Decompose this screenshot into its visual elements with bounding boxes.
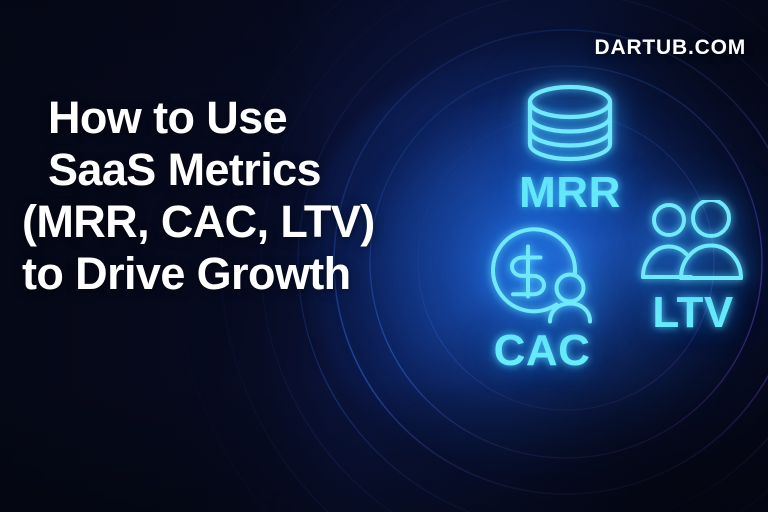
metrics-icon-cluster: MRR CAC: [440, 60, 768, 400]
headline-line-4: to Drive Growth: [22, 248, 422, 300]
dollar-circle-user-icon: [452, 220, 632, 324]
metric-cac: CAC: [452, 220, 632, 376]
metric-ltv-label: LTV: [608, 288, 768, 338]
metric-cac-label: CAC: [452, 326, 632, 376]
database-cylinder-icon: [480, 82, 660, 164]
site-logo[interactable]: DARTUB.COM: [595, 36, 746, 60]
metric-mrr: MRR: [480, 82, 660, 218]
blog-banner: DARTUB.COM How to Use SaaS Metrics (MRR,…: [0, 0, 768, 512]
headline-line-1: How to Use: [22, 92, 422, 144]
metric-ltv: LTV: [608, 200, 768, 338]
users-group-icon: [608, 200, 768, 286]
headline-line-2: SaaS Metrics: [22, 144, 422, 196]
headline-line-3: (MRR, CAC, LTV): [22, 196, 422, 248]
headline: How to Use SaaS Metrics (MRR, CAC, LTV) …: [22, 92, 422, 300]
